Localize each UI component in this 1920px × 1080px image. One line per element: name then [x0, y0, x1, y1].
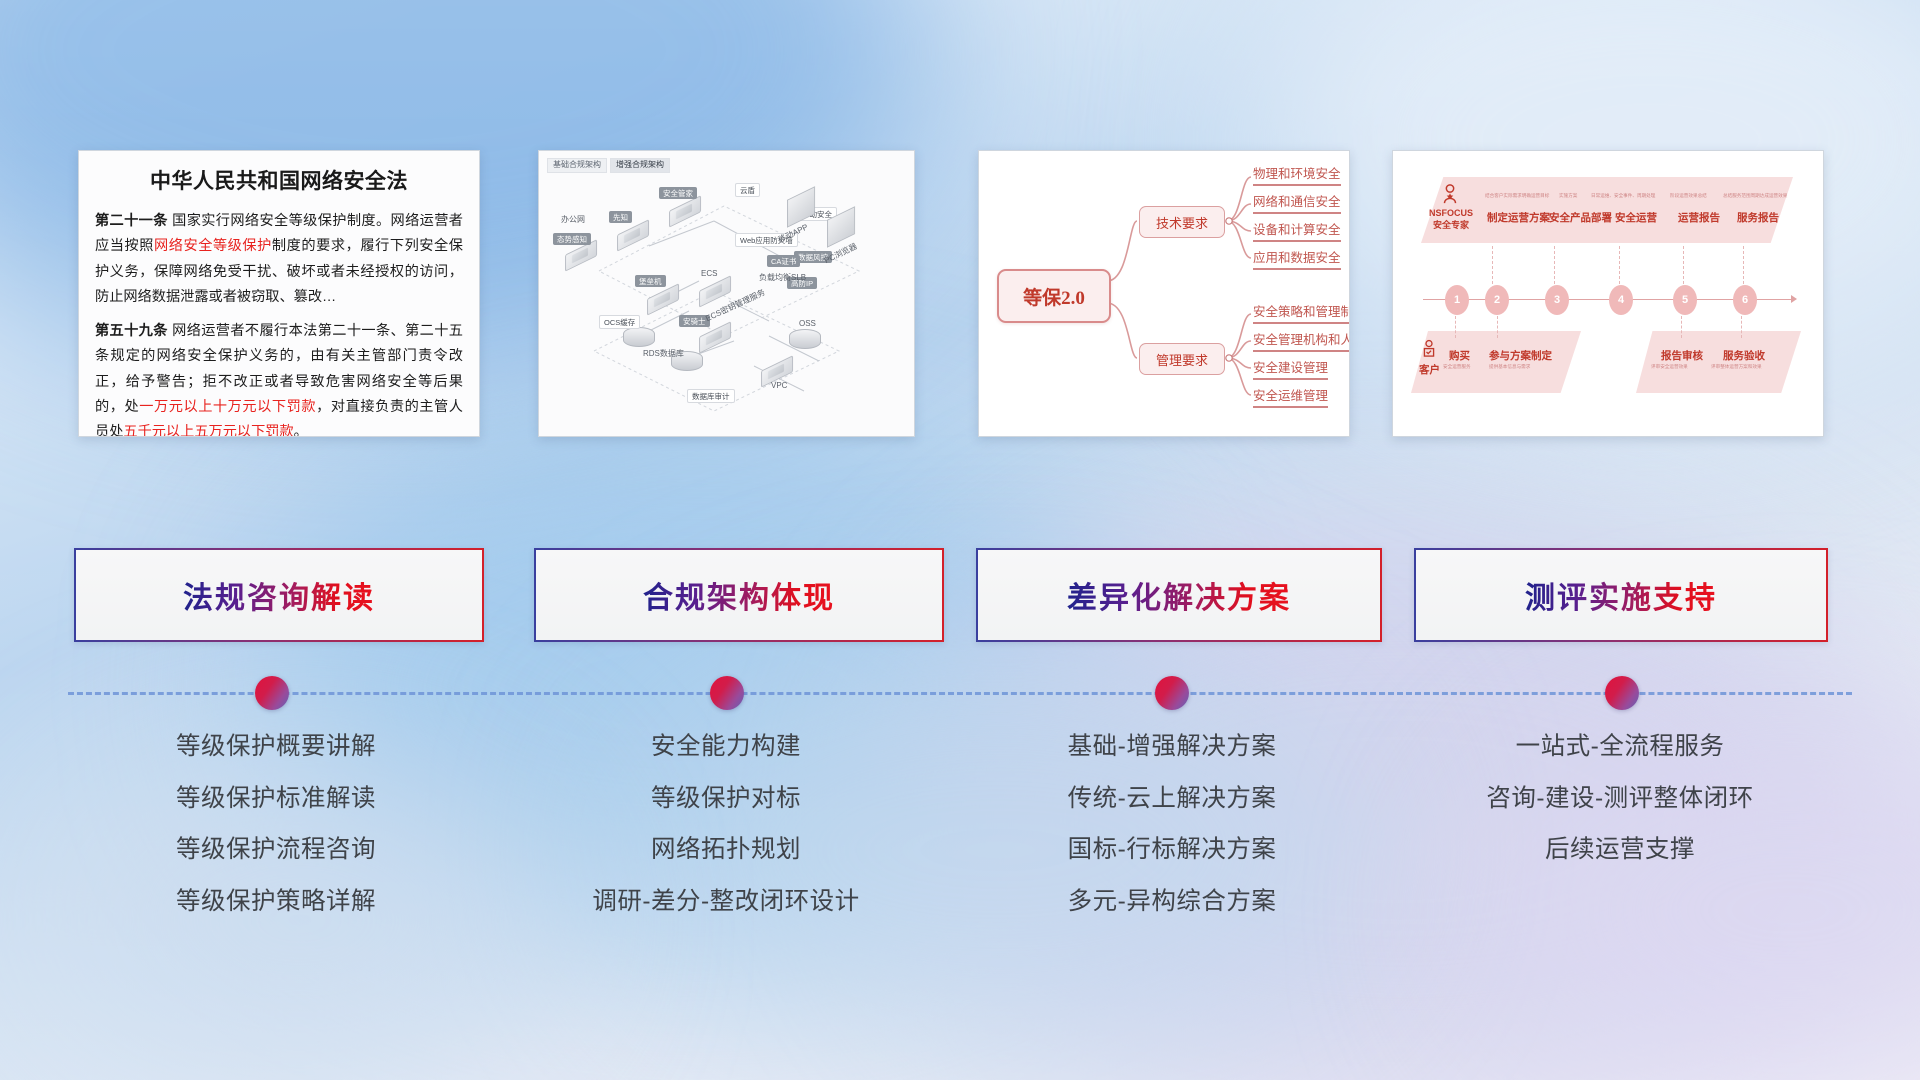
iso-node [669, 203, 701, 220]
mindmap-leaf: 物理和环境安全 [1253, 163, 1341, 186]
node-label-database-audit: 数据库审计 [687, 389, 735, 403]
flow-step-label: 安全运营 [1615, 210, 1657, 225]
node-label-situational-awareness: 态势感知 [553, 233, 591, 245]
list-item: 网络拓扑规划 [506, 838, 946, 863]
list-item: 一站式-全流程服务 [1400, 735, 1840, 760]
detail-list-3: 基础-增强解决方案 传统-云上解决方案 国标-行标解决方案 多元-异构综合方案 [952, 735, 1392, 941]
iso-node [647, 291, 679, 308]
list-item: 等级保护对标 [506, 787, 946, 812]
flow-step-number: 1 [1445, 285, 1469, 315]
mindmap: 等保2.0 技术要求 物理和环境安全 网络和通信安全 设备和计算安全 应用和数据… [979, 151, 1349, 436]
mindmap-leaf: 应用和数据安全 [1253, 247, 1341, 270]
law-text-highlight: 五千元以上五万元以下罚款 [123, 424, 293, 437]
node-label-vpc: VPC [767, 379, 791, 392]
card-compliance-architecture[interactable]: 基础合规架构 增强合规架构 [538, 150, 915, 437]
iso-node [761, 363, 793, 380]
timeline-dashed-line [68, 692, 1852, 695]
law-text: 。 [294, 424, 308, 437]
mindmap-branch-management: 管理要求 [1139, 343, 1225, 375]
mindmap-leaf: 安全运维管理 [1253, 385, 1328, 408]
mindmap-branch-technical: 技术要求 [1139, 206, 1225, 238]
flow-bottom-step-label: 服务验收 [1723, 348, 1765, 363]
iso-node [565, 247, 597, 264]
timeline-dot-3[interactable] [1155, 676, 1189, 710]
flow-actor-expert: NSFOCUS安全专家 [1424, 208, 1478, 231]
customer-icon [1419, 339, 1439, 359]
flow-bottom-step-label: 购买 [1449, 348, 1470, 363]
section-title-label: 合规架构体现 [643, 573, 835, 617]
flow-bottom-step-label: 参与方案制定 [1489, 348, 1552, 363]
detail-list-2: 安全能力构建 等级保护对标 网络拓扑规划 调研-差分-整改闭环设计 [506, 735, 946, 941]
mindmap-leaf: 设备和计算安全 [1253, 219, 1341, 242]
section-title-box-4[interactable]: 测评实施支持 [1414, 548, 1828, 642]
node-label-xianzhi: 先知 [609, 211, 632, 223]
node-label-cloud-shield: 云盾 [735, 183, 760, 197]
flow-step-number: 3 [1545, 285, 1569, 315]
timeline-dot-4[interactable] [1605, 676, 1639, 710]
flow-tick [1554, 246, 1556, 284]
list-item: 咨询-建设-测评整体闭环 [1400, 787, 1840, 812]
flow-bottom-step-sub: 提供基本信息与需求 [1489, 364, 1530, 370]
node-label-ocs-cache: OCS缓存 [599, 315, 640, 329]
list-item: 安全能力构建 [506, 735, 946, 760]
section-detail-lists: 等级保护概要讲解 等级保护标准解读 等级保护流程咨询 等级保护策略详解 安全能力… [0, 735, 1920, 995]
flow-step-label: 制定运营方案 [1487, 210, 1550, 225]
node-label-ecs: ECS [697, 267, 721, 280]
section-title-label: 差异化解决方案 [1067, 573, 1291, 617]
flow-bottom-step-sub: 评审整体运营方案和效果 [1711, 364, 1762, 370]
list-item: 等级保护概要讲解 [56, 735, 496, 760]
iso-node [827, 213, 855, 241]
mindmap-leaf: 安全建设管理 [1253, 357, 1328, 380]
flow-step-label: 服务报告 [1737, 210, 1779, 225]
iso-node [699, 283, 731, 300]
node-label-oss: OSS [795, 317, 820, 330]
flow-tick [1743, 246, 1745, 284]
flow-step-sub: 结合客户实际需求明确运营目标 [1485, 193, 1549, 199]
expert-icon [1439, 183, 1461, 205]
law-paragraph-21: 第二十一条 国家实行网络安全等级保护制度。网络运营者应当按照网络安全等级保护制度… [95, 209, 463, 310]
section-title-box-1[interactable]: 法规咨询解读 [74, 548, 484, 642]
node-label-ca-certificate: CA证书 [767, 255, 800, 267]
flow-tick [1492, 246, 1494, 284]
law-document: 中华人民共和国网络安全法 第二十一条 国家实行网络安全等级保护制度。网络运营者应… [79, 151, 479, 436]
flow-tick [1497, 316, 1499, 338]
law-text-highlight: 网络安全等级保护 [154, 238, 272, 254]
flow-tick [1619, 246, 1621, 284]
node-label-slb: 负载均衡SLB [755, 271, 810, 284]
card-service-flow[interactable]: NSFOCUS安全专家 制定运营方案 结合客户实际需求明确运营目标 安全产品部署… [1392, 150, 1824, 437]
list-item: 传统-云上解决方案 [952, 787, 1392, 812]
flow-actor-customer: 客户 [1419, 362, 1440, 377]
law-article-number: 第五十九条 [95, 323, 168, 339]
list-item: 国标-行标解决方案 [952, 838, 1392, 863]
flow-tick [1455, 316, 1457, 338]
list-item: 多元-异构综合方案 [952, 890, 1392, 915]
flow-step-label: 安全产品部署 [1549, 210, 1612, 225]
flow-bottom-step-sub: 评审安全运营效果 [1651, 364, 1688, 370]
mindmap-root: 等保2.0 [997, 269, 1111, 323]
detail-list-4: 一站式-全流程服务 咨询-建设-测评整体闭环 后续运营支撑 [1400, 735, 1840, 890]
flow-step-number: 2 [1485, 285, 1509, 315]
section-title-label: 法规咨询解读 [183, 573, 375, 617]
card-cybersecurity-law[interactable]: 中华人民共和国网络安全法 第二十一条 国家实行网络安全等级保护制度。网络运营者应… [78, 150, 480, 437]
architecture-diagram: 基础合规架构 增强合规架构 [539, 151, 914, 436]
flow-step-number: 5 [1673, 285, 1697, 315]
mindmap-leaf: 安全策略和管理制度 [1253, 301, 1350, 324]
list-item: 后续运营支撑 [1400, 838, 1840, 863]
node-label-rds-database: RDS数据库 [639, 347, 688, 360]
mindmap-leaf: 安全管理机构和人员 [1253, 329, 1350, 352]
iso-node [789, 329, 821, 349]
section-title-box-3[interactable]: 差异化解决方案 [976, 548, 1382, 642]
list-item: 等级保护流程咨询 [56, 838, 496, 863]
section-title-label: 测评实施支持 [1525, 573, 1717, 617]
iso-node [623, 327, 655, 347]
section-title-box-2[interactable]: 合规架构体现 [534, 548, 944, 642]
law-title: 中华人民共和国网络安全法 [95, 165, 463, 195]
iso-node [699, 329, 731, 346]
flow-tick [1683, 246, 1685, 284]
card-mindmap-dengbao[interactable]: 等保2.0 技术要求 物理和环境安全 网络和通信安全 设备和计算安全 应用和数据… [978, 150, 1350, 437]
timeline-dot-2[interactable] [710, 676, 744, 710]
flow-step-sub: 实施方案 [1559, 193, 1577, 199]
law-paragraph-59: 第五十九条 网络运营者不履行本法第二十一条、第二十五条规定的网络安全保护义务的，… [95, 319, 463, 437]
flow-axis-arrow-icon [1791, 295, 1797, 303]
flow-bottom-step-sub: 安全运营服务 [1443, 364, 1471, 370]
flow-step-number: 6 [1733, 285, 1757, 315]
section-title-row: 法规咨询解读 合规架构体现 差异化解决方案 测评实施支持 [0, 548, 1920, 640]
node-label-bastion-host: 堡垒机 [635, 275, 666, 287]
list-item: 等级保护策略详解 [56, 890, 496, 915]
flow-step-sub: 总结服务范围周期达成运营效果 [1723, 193, 1787, 199]
timeline-dot-1[interactable] [255, 676, 289, 710]
flow-bottom-step-label: 报告审核 [1661, 348, 1703, 363]
flow-step-label: 运营报告 [1678, 210, 1720, 225]
iso-node [787, 193, 815, 221]
detail-list-1: 等级保护概要讲解 等级保护标准解读 等级保护流程咨询 等级保护策略详解 [56, 735, 496, 941]
node-label-office-network: 办公网 [557, 213, 589, 226]
flow-tick [1741, 316, 1743, 338]
timeline [0, 660, 1920, 730]
flow-tick [1681, 316, 1683, 338]
illustration-card-row: 中华人民共和国网络安全法 第二十一条 国家实行网络安全等级保护制度。网络运营者应… [0, 150, 1920, 440]
flow-step-number: 4 [1609, 285, 1633, 315]
flow-step-sub: 日常运维、安全事件、周期处理 [1591, 193, 1655, 199]
mindmap-leaf: 网络和通信安全 [1253, 191, 1341, 214]
iso-node [617, 227, 649, 244]
list-item: 调研-差分-整改闭环设计 [506, 890, 946, 915]
flow-step-sub: 阶段运营效果总结 [1670, 193, 1707, 199]
node-label-security-butler: 安全管家 [659, 187, 697, 199]
law-article-number: 第二十一条 [95, 213, 168, 229]
list-item: 等级保护标准解读 [56, 787, 496, 812]
service-flow-diagram: NSFOCUS安全专家 制定运营方案 结合客户实际需求明确运营目标 安全产品部署… [1393, 151, 1823, 436]
law-text-highlight: 一万元以上十万元以下罚款 [139, 399, 316, 415]
list-item: 基础-增强解决方案 [952, 735, 1392, 760]
